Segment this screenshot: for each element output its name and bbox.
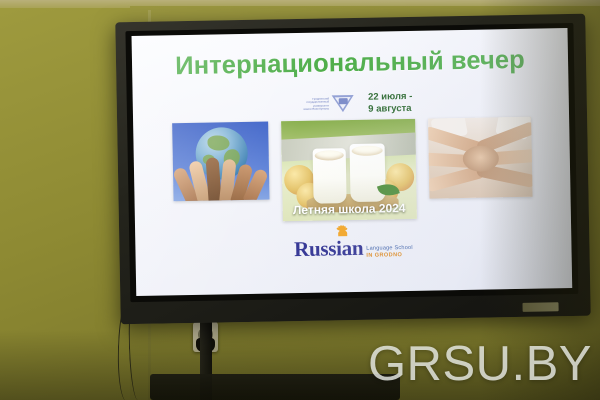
room-scene: Интернациональный вечер Гродненский госу… (0, 0, 600, 400)
date-line-1: 22 июля - (368, 91, 413, 103)
glass-foam (351, 145, 382, 156)
university-logo-text: Гродненский государственный университет … (289, 97, 329, 111)
logo-wordmark: Russian (294, 236, 364, 262)
uni-line-4: имени Янки Купалы (289, 107, 329, 111)
logo-word-text: Russian (294, 236, 364, 261)
photo-hands-globe (172, 122, 269, 202)
glass-foam (314, 150, 343, 161)
summer-school-caption: Летняя школа 2024 (282, 201, 416, 217)
slide-dates: 22 июля - 9 августа (368, 91, 413, 115)
photo-summer-school: Летняя школа 2024 (281, 119, 417, 221)
globe-landmass (207, 135, 229, 150)
book-icon (339, 98, 348, 104)
grsu-watermark: GRSU.BY (368, 336, 592, 392)
date-line-2: 9 августа (368, 102, 413, 114)
logo-subtext-line-2: IN GRODNO (366, 251, 413, 258)
grodno-state-university-logo: Гродненский государственный университет … (289, 92, 354, 115)
logo-subtext-line-1: Language School (366, 245, 413, 252)
drink-glass (312, 148, 346, 204)
university-triangle-icon (332, 92, 354, 114)
logo-subtext: Language School IN GRODNO (366, 245, 413, 261)
sun-icon (332, 224, 352, 238)
